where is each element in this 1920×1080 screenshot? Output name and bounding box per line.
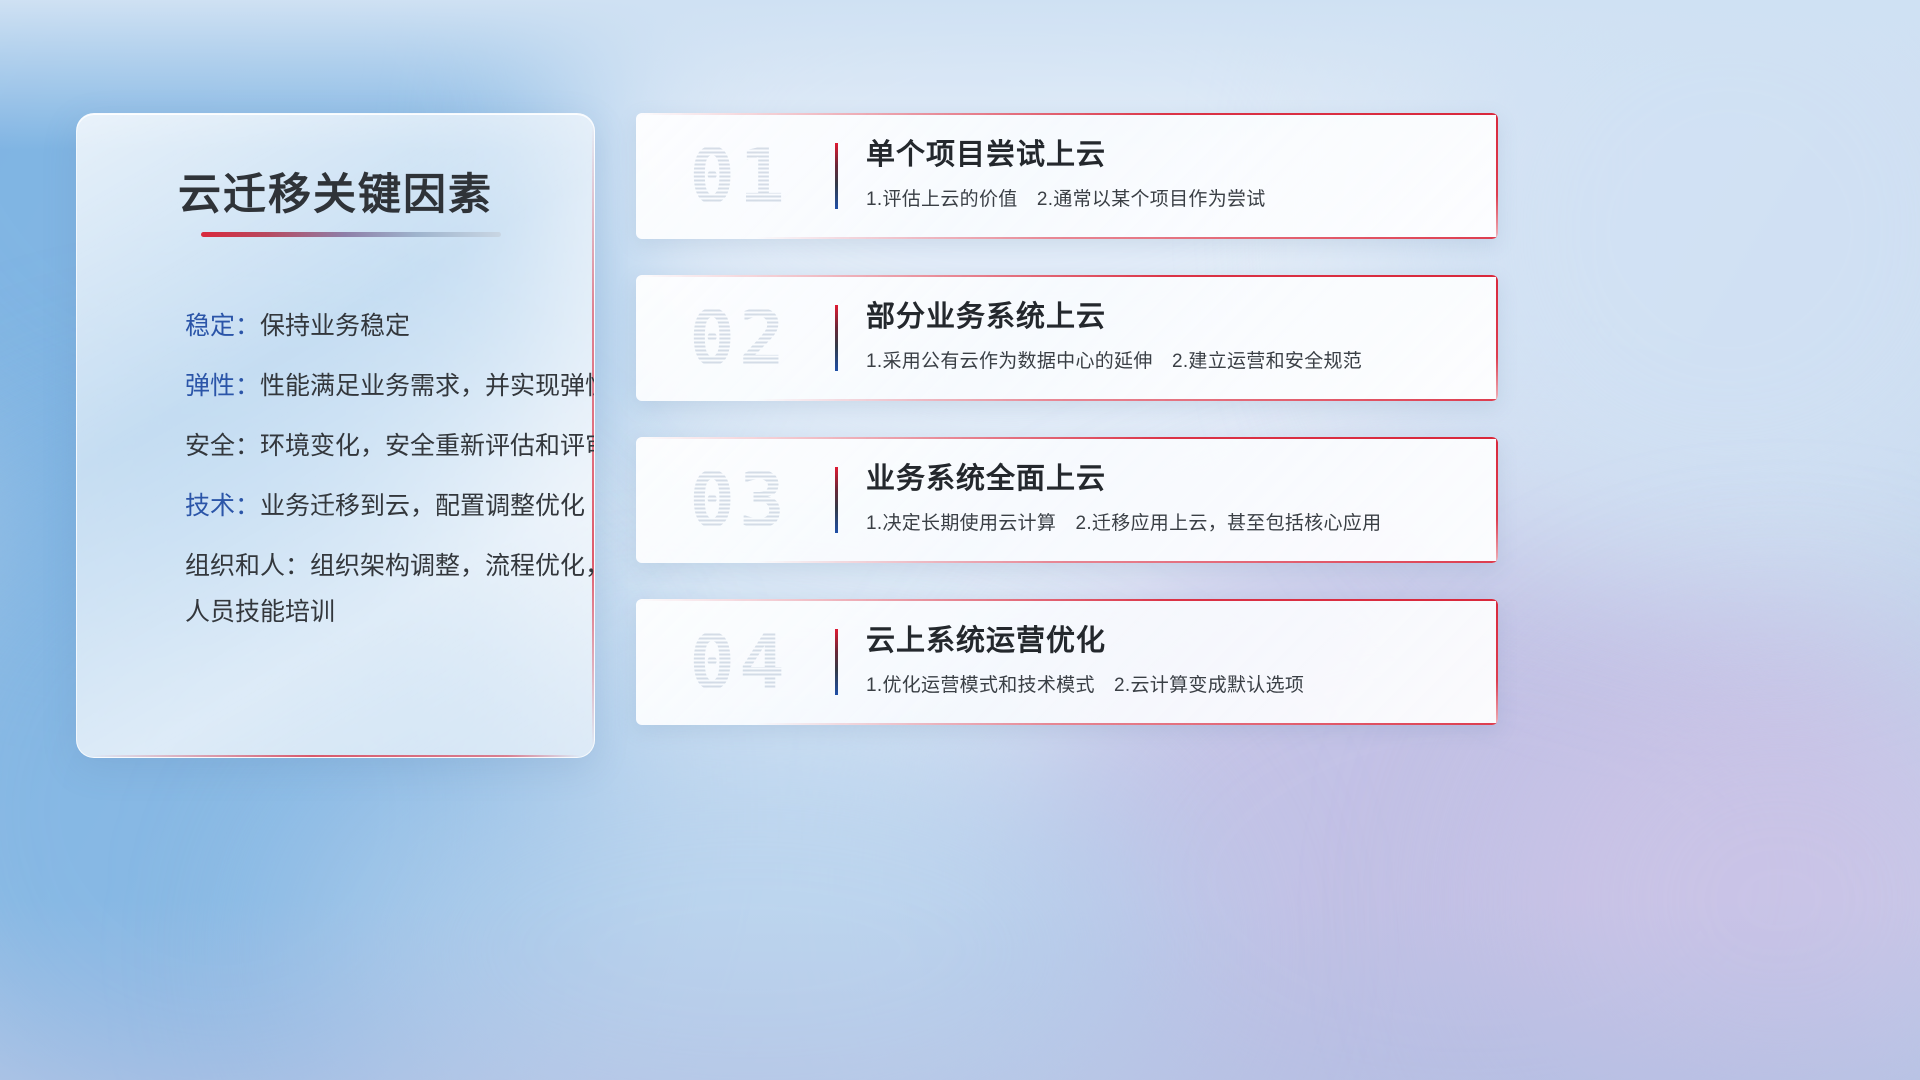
card-accent-bar	[835, 467, 838, 533]
factor-list: 稳定：保持业务稳定 弹性：性能满足业务需求，并实现弹性 安全：环境变化，安全重新…	[185, 314, 554, 660]
card-right-accent-edge	[1496, 599, 1498, 725]
stage-card[interactable]: 03 业务系统全面上云 1.决定长期使用云计算 2.迁移应用上云，甚至包括核心应…	[636, 437, 1498, 563]
list-item: 组织和人：组织架构调整，流程优化，	[185, 554, 554, 579]
card-title: 云上系统运营优化	[866, 625, 1474, 658]
stage-number: 03	[664, 456, 814, 545]
factor-value: 性能满足业务需求，并实现弹性	[260, 372, 595, 400]
page-title: 云迁移关键因素	[77, 160, 594, 222]
factor-key: 稳定：	[185, 312, 260, 340]
card-body: 单个项目尝试上云 1.评估上云的价值 2.通常以某个项目作为尝试	[866, 139, 1474, 211]
card-subtitle: 1.评估上云的价值 2.通常以某个项目作为尝试	[866, 184, 1474, 211]
card-accent-bar	[835, 143, 838, 209]
list-item: 技术：业务迁移到云，配置调整优化	[185, 494, 554, 519]
stage-card-list: 01 单个项目尝试上云 1.评估上云的价值 2.通常以某个项目作为尝试 02 部…	[636, 113, 1498, 761]
card-top-accent-edge	[636, 113, 1498, 115]
card-title: 单个项目尝试上云	[866, 139, 1474, 172]
card-top-accent-edge	[636, 275, 1498, 277]
list-item: 弹性：性能满足业务需求，并实现弹性	[185, 374, 554, 399]
stage-number: 04	[664, 618, 814, 707]
card-subtitle: 1.采用公有云作为数据中心的延伸 2.建立运营和安全规范	[866, 346, 1474, 373]
stage-card[interactable]: 04 云上系统运营优化 1.优化运营模式和技术模式 2.云计算变成默认选项	[636, 599, 1498, 725]
card-top-accent-edge	[636, 599, 1498, 601]
card-right-accent-edge	[1496, 275, 1498, 401]
factor-value: 环境变化，安全重新评估和评审	[260, 432, 595, 460]
card-bottom-accent-edge	[756, 561, 1498, 563]
factor-value: 保持业务稳定	[260, 312, 410, 340]
stage-number: 01	[664, 132, 814, 221]
card-right-accent-edge	[1496, 437, 1498, 563]
card-body: 业务系统全面上云 1.决定长期使用云计算 2.迁移应用上云，甚至包括核心应用	[866, 463, 1474, 535]
card-subtitle: 1.优化运营模式和技术模式 2.云计算变成默认选项	[866, 670, 1474, 697]
background-bottom-fade	[0, 900, 1920, 1080]
card-top-accent-edge	[636, 437, 1498, 439]
card-subtitle: 1.决定长期使用云计算 2.迁移应用上云，甚至包括核心应用	[866, 508, 1474, 535]
card-title: 业务系统全面上云	[866, 463, 1474, 496]
card-right-accent-edge	[1496, 113, 1498, 239]
factor-value: 业务迁移到云，配置调整优化	[260, 492, 585, 520]
factor-key: 技术：	[185, 492, 260, 520]
panel-bottom-accent-edge	[91, 755, 580, 757]
factor-key: 组织和人：	[185, 552, 310, 580]
stage-card[interactable]: 01 单个项目尝试上云 1.评估上云的价值 2.通常以某个项目作为尝试	[636, 113, 1498, 239]
list-item: 稳定：保持业务稳定	[185, 314, 554, 339]
title-underline-rule	[201, 232, 501, 237]
card-body: 云上系统运营优化 1.优化运营模式和技术模式 2.云计算变成默认选项	[866, 625, 1474, 697]
card-bottom-accent-edge	[756, 399, 1498, 401]
card-bottom-accent-edge	[756, 723, 1498, 725]
card-body: 部分业务系统上云 1.采用公有云作为数据中心的延伸 2.建立运营和安全规范	[866, 301, 1474, 373]
card-accent-bar	[835, 629, 838, 695]
key-factors-panel: 云迁移关键因素 稳定：保持业务稳定 弹性：性能满足业务需求，并实现弹性 安全：环…	[76, 113, 595, 758]
factor-key: 弹性：	[185, 372, 260, 400]
stage-card[interactable]: 02 部分业务系统上云 1.采用公有云作为数据中心的延伸 2.建立运营和安全规范	[636, 275, 1498, 401]
card-title: 部分业务系统上云	[866, 301, 1474, 334]
factor-key: 安全：	[185, 432, 260, 460]
factor-continuation-line: 人员技能培训	[185, 600, 554, 625]
list-item: 安全：环境变化，安全重新评估和评审	[185, 434, 554, 459]
stage-number: 02	[664, 294, 814, 383]
factor-value: 组织架构调整，流程优化，	[310, 552, 595, 580]
card-accent-bar	[835, 305, 838, 371]
card-bottom-accent-edge	[756, 237, 1498, 239]
